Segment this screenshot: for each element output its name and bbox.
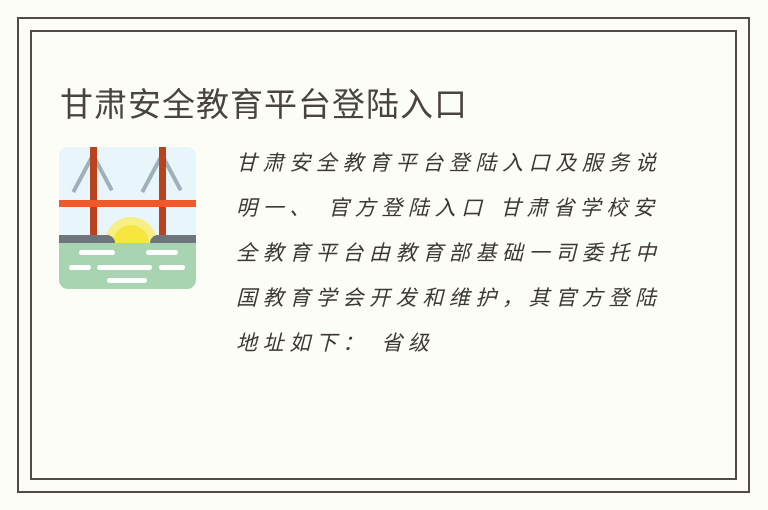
page-card-inner-border: 甘肃安全教育平台登陆入口 [30, 30, 737, 480]
bridge-tower-left [90, 147, 97, 243]
content-row: 甘肃安全教育平台登陆入口及服务说明一、 官方登陆入口 甘肃省学校安全教育平台由教… [32, 127, 735, 478]
page-card: 甘肃安全教育平台登陆入口 [17, 17, 750, 493]
bridge-tower-right [159, 147, 166, 243]
suspension-bridge-illustration [59, 147, 196, 289]
page-title: 甘肃安全教育平台登陆入口 [60, 83, 468, 127]
water-stripe [69, 265, 91, 270]
article-body: 甘肃安全教育平台登陆入口及服务说明一、 官方登陆入口 甘肃省学校安全教育平台由教… [236, 141, 666, 366]
water-stripe [146, 250, 178, 255]
bridge-deck-beam [59, 200, 196, 207]
water-stripe [159, 265, 185, 270]
water-stripe [79, 250, 115, 255]
water-stripe [107, 278, 147, 283]
water-stripe [97, 265, 152, 270]
